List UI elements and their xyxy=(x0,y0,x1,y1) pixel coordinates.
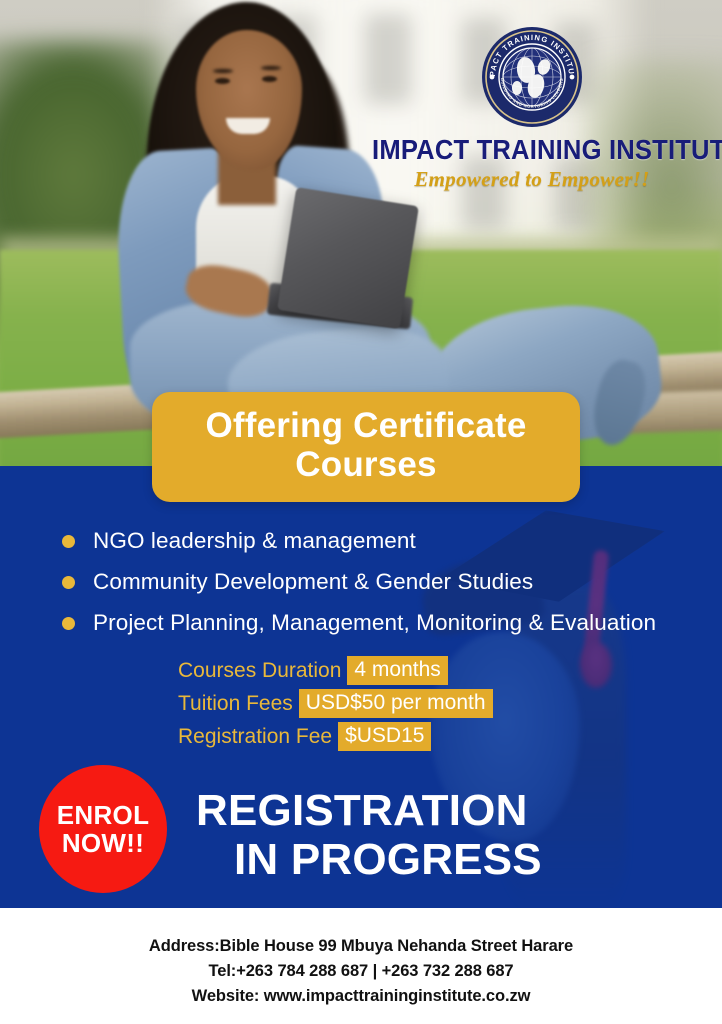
bullet-dot-icon xyxy=(62,617,75,630)
course-label: Community Development & Gender Studies xyxy=(93,569,533,595)
fee-row: Courses Duration 4 months xyxy=(178,656,493,685)
fee-row: Tuition Fees USD$50 per month xyxy=(178,689,493,718)
footer-website[interactable]: Website: www.impacttraininginstitute.co.… xyxy=(0,984,722,1009)
fee-value: USD$50 per month xyxy=(299,689,493,718)
student-eye-right xyxy=(262,76,277,82)
list-item: Project Planning, Management, Monitoring… xyxy=(62,610,656,636)
student-eyebrow-left xyxy=(213,69,233,73)
laptop-screen xyxy=(277,187,419,329)
fees-block: Courses Duration 4 months Tuition Fees U… xyxy=(178,656,493,755)
fee-value: 4 months xyxy=(347,656,447,685)
bullet-dot-icon xyxy=(62,535,75,548)
flyer-poster: IMPACT TRAINING INSTITUTE BUILDING AND N… xyxy=(0,0,722,1024)
fee-label: Courses Duration xyxy=(178,659,341,683)
institute-tagline: Empowered to Empower!! xyxy=(360,167,704,192)
enrol-now-badge[interactable]: ENROL NOW!! xyxy=(39,765,167,893)
footer-phone: Tel:+263 784 288 687 | +263 732 288 687 xyxy=(0,959,722,984)
student-eye-left xyxy=(215,78,230,84)
registration-headline-line-1: REGISTRATION xyxy=(196,786,542,835)
banner-line-2: Courses xyxy=(170,445,562,484)
bullet-dot-icon xyxy=(62,576,75,589)
banner-line-1: Offering Certificate xyxy=(170,406,562,445)
fee-row: Registration Fee $USD15 xyxy=(178,722,493,751)
contact-footer: Address:Bible House 99 Mbuya Nehanda Str… xyxy=(0,908,722,1024)
fee-label: Registration Fee xyxy=(178,725,332,749)
institute-wordmark: IMPACT TRAINING INSTITUTE xyxy=(372,134,692,166)
brand-logo-block: IMPACT TRAINING INSTITUTE BUILDING AND N… xyxy=(360,26,704,192)
course-list: NGO leadership & management Community De… xyxy=(62,528,656,651)
enrol-badge-line-1: ENROL xyxy=(57,801,150,829)
footer-address: Address:Bible House 99 Mbuya Nehanda Str… xyxy=(0,934,722,959)
fee-label: Tuition Fees xyxy=(178,692,293,716)
list-item: NGO leadership & management xyxy=(62,528,656,554)
fee-value: $USD15 xyxy=(338,722,431,751)
enrol-badge-line-2: NOW!! xyxy=(62,829,144,857)
registration-headline-line-2: IN PROGRESS xyxy=(234,835,542,884)
student-eyebrow-right xyxy=(261,66,281,70)
course-label: Project Planning, Management, Monitoring… xyxy=(93,610,656,636)
list-item: Community Development & Gender Studies xyxy=(62,569,656,595)
registration-headline: REGISTRATION IN PROGRESS xyxy=(196,786,542,885)
institute-seal-icon: IMPACT TRAINING INSTITUTE BUILDING AND N… xyxy=(481,26,583,128)
offering-banner: Offering Certificate Courses xyxy=(152,392,580,502)
course-label: NGO leadership & management xyxy=(93,528,416,554)
